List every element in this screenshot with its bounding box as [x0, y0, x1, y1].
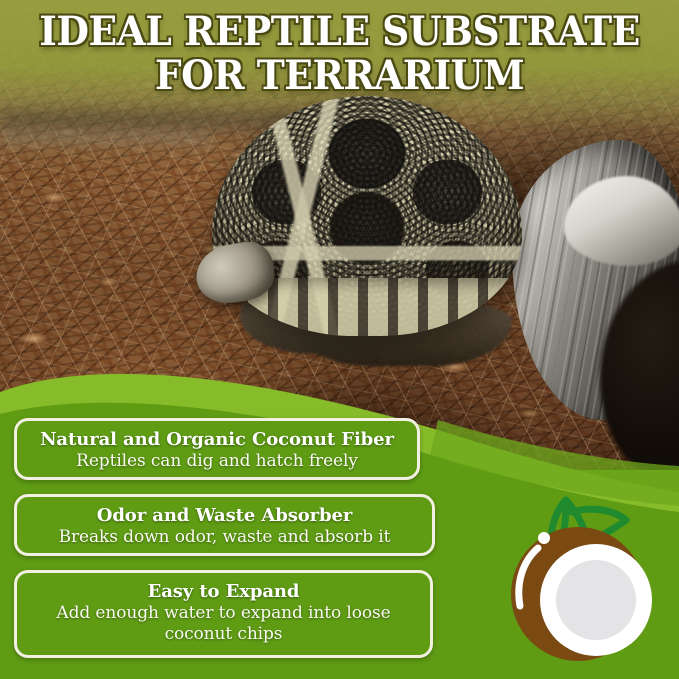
feature-2-title: Odor and Waste Absorber — [27, 504, 422, 527]
feature-1-subtitle: Reptiles can dig and hatch freely — [27, 451, 407, 472]
feature-1-title: Natural and Organic Coconut Fiber — [27, 428, 407, 451]
feature-2-subtitle: Breaks down odor, waste and absorb it — [27, 527, 422, 548]
feature-box-3[interactable]: Easy to Expand Add enough water to expan… — [14, 570, 433, 658]
feature-list: Natural and Organic Coconut Fiber Reptil… — [0, 0, 679, 679]
feature-3-title: Easy to Expand — [27, 580, 420, 603]
feature-box-1[interactable]: Natural and Organic Coconut Fiber Reptil… — [14, 418, 420, 480]
feature-3-subtitle: Add enough water to expand into loose co… — [27, 603, 420, 645]
product-poster: IDEAL REPTILE SUBSTRATE FOR TERRARIUM — [0, 0, 679, 679]
feature-box-2[interactable]: Odor and Waste Absorber Breaks down odor… — [14, 494, 435, 556]
